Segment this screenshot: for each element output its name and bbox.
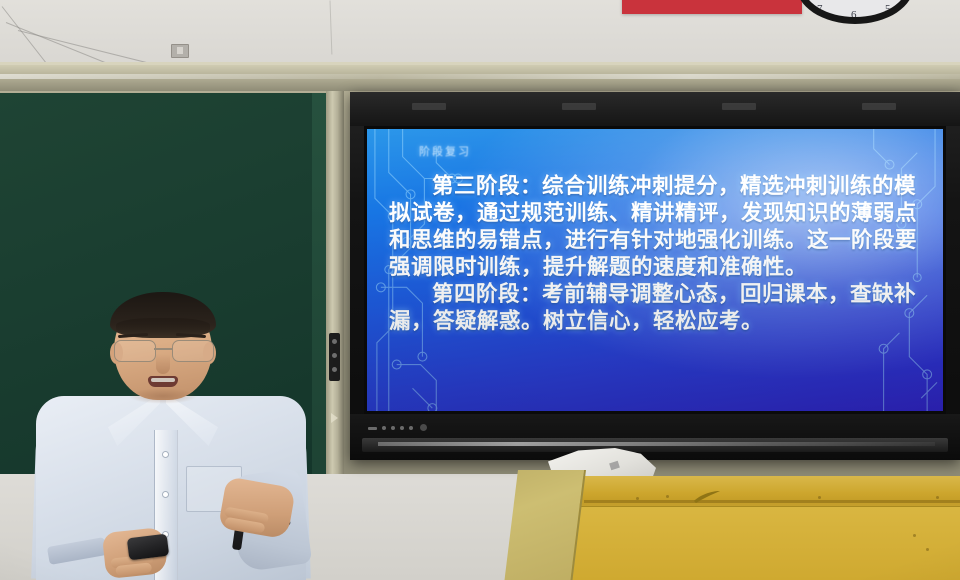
power-button[interactable] bbox=[368, 427, 377, 430]
blackboard-slide-arrow-icon bbox=[331, 413, 338, 423]
nose bbox=[156, 354, 170, 374]
slide-paragraph-1: 第三阶段：综合训练冲刺提分，精选冲刺训练的模拟试卷，通过规范训练、精讲精评，发现… bbox=[389, 173, 927, 281]
panel-control-buttons[interactable] bbox=[368, 426, 413, 430]
clock-numeral-5: 5 bbox=[885, 3, 891, 15]
mouth bbox=[148, 376, 178, 387]
podium-left-corner bbox=[504, 470, 586, 580]
blackboard-top-rail bbox=[0, 65, 960, 91]
glasses-bridge bbox=[154, 348, 172, 350]
blackboard-handle[interactable] bbox=[329, 333, 340, 381]
panel-screen-bezel: 阶段复习 第三阶段：综合训练冲刺提分，精选冲刺训练的模拟试卷，通过规范训练、精讲… bbox=[364, 126, 946, 414]
clock-numeral-6: 6 bbox=[851, 9, 857, 21]
blackboard-slide-rail bbox=[326, 91, 344, 495]
clock-numeral-7: 7 bbox=[817, 3, 823, 15]
classroom-scene: 7 6 5 bbox=[0, 0, 960, 580]
hair bbox=[110, 292, 216, 338]
slide-paragraph-2: 第四阶段：考前辅导调整心态，回归课本，查缺补漏，答疑解惑。树立信心，轻松应考。 bbox=[389, 281, 927, 335]
panel-bottom-bezel bbox=[350, 414, 960, 460]
panel-speaker-bar bbox=[362, 438, 948, 452]
wooden-podium bbox=[518, 476, 960, 580]
swoosh-logo-icon bbox=[693, 491, 721, 503]
slide-body: 第三阶段：综合训练冲刺提分，精选冲刺训练的模拟试卷，通过规范训练、精讲精评，发现… bbox=[389, 173, 927, 335]
red-banner bbox=[622, 0, 802, 14]
wall-mount-bracket bbox=[171, 44, 189, 58]
lens-right bbox=[172, 340, 214, 362]
podium-edge-shadow bbox=[584, 500, 960, 503]
panel-top-bezel bbox=[350, 92, 960, 126]
menu-button[interactable] bbox=[382, 426, 386, 430]
chin-shadow bbox=[128, 388, 198, 404]
volume-down-button[interactable] bbox=[400, 426, 404, 430]
input-button[interactable] bbox=[391, 426, 395, 430]
lens-left bbox=[114, 340, 156, 362]
ir-receiver bbox=[420, 424, 427, 431]
interactive-flat-panel[interactable]: 阶段复习 第三阶段：综合训练冲刺提分，精选冲刺训练的模拟试卷，通过规范训练、精讲… bbox=[350, 92, 960, 460]
presentation-slide: 阶段复习 第三阶段：综合训练冲刺提分，精选冲刺训练的模拟试卷，通过规范训练、精讲… bbox=[367, 129, 943, 411]
slide-header-label: 阶段复习 bbox=[419, 143, 471, 159]
teacher-figure bbox=[36, 296, 306, 580]
volume-up-button[interactable] bbox=[409, 426, 413, 430]
